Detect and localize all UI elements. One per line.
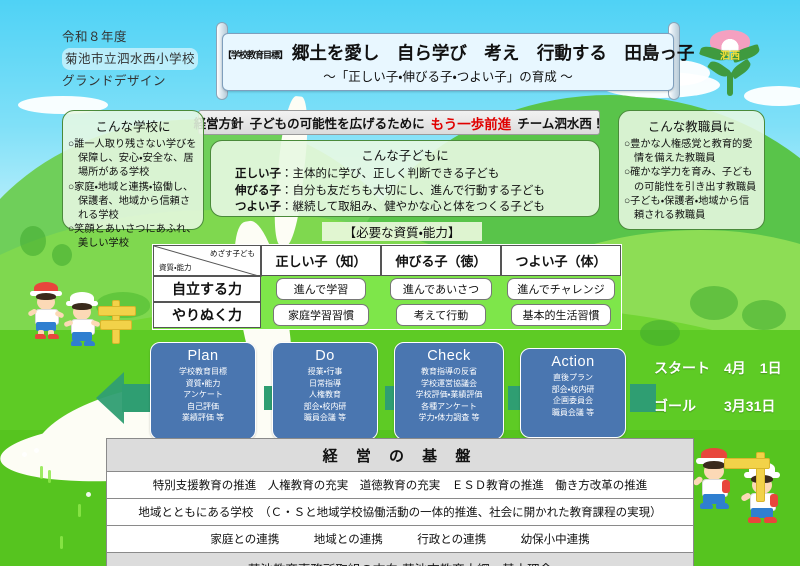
capability-section-title: 【必要な資質・能力】 <box>322 222 482 241</box>
policy-tail: チーム泗水西！ <box>517 113 604 132</box>
capability-row-items: 進んで学習 進んであいさつ 進んでチャレンジ <box>261 276 621 302</box>
grand-design-poster: 泗西 令和８年度 菊池市立泗水西小学校 グランドデザイン 【学校教育目標】 郷土… <box>0 0 800 566</box>
list-item: ○確かな学力を育み、子どもの可能性を引き出す教職員 <box>624 166 759 194</box>
list-item: ○豊かな人権感覚と教育的愛情を備えた教職員 <box>624 138 759 166</box>
grass-1 <box>40 466 43 479</box>
pdca-items: 直後プラン 部会・校内研 企画委員会 職員会議 等 <box>521 372 625 418</box>
child-type-desc: ：主体的に学び、正しく判断できる子ども <box>281 168 499 180</box>
tree-5 <box>640 320 680 346</box>
capability-col-2: 伸びる子（徳） <box>381 245 501 276</box>
signpost-right-arm <box>724 458 770 469</box>
capability-pill: 基本的生活習慣 <box>511 304 611 326</box>
target-school-box: こんな学校に ○誰一人取り残さない学びを保障し、安心・安全な、居場所がある学校 … <box>62 110 204 230</box>
capability-pill: 家庭学習習慣 <box>273 304 369 326</box>
capability-pill: 考えて行動 <box>396 304 486 326</box>
emblem-kanji: 泗西 <box>698 52 762 62</box>
target-staff-list: ○豊かな人権感覚と教育的愛情を備えた教職員 ○確かな学力を育み、子どもの可能性を… <box>619 138 764 227</box>
signpost-arm-bottom <box>100 320 132 330</box>
pdca-items: 学校教育目標 資質・能力 アンケート 自己評価 業績評価 等 <box>151 366 255 424</box>
capability-col-3: つよい子（体） <box>501 245 621 276</box>
emblem-stem <box>727 72 733 96</box>
schedule-start: スタート 4月 1日 <box>654 358 782 378</box>
capability-table-header: めざす子ども 資質・能力 正しい子（知） 伸びる子（徳） つよい子（体） <box>153 245 621 276</box>
pdca-heading: Do <box>273 348 377 364</box>
target-children-title: こんな子どもに <box>211 145 599 164</box>
target-children-box: こんな子どもに 正しい子：主体的に学び、正しく判断できる子ども 伸びる子：自分も… <box>210 140 600 217</box>
school-goal-banner: 【学校教育目標】 郷土を愛し 自ら学び 考え 行動する 田島っ子 ～「正しい子・… <box>222 33 674 91</box>
foundation-title: 経 営 の 基 盤 <box>107 439 693 472</box>
capability-row-label: 自立する力 <box>153 276 261 302</box>
target-school-list: ○誰一人取り残さない学びを保障し、安心・安全な、居場所がある学校 ○家庭・地域と… <box>63 138 203 256</box>
signpost-arm-top <box>98 306 136 316</box>
child-type-row: つよい子：継続して取組み、健やかな心と体をつくる子ども <box>211 199 599 216</box>
page-title: 【学校教育目標】 郷土を愛し 自ら学び 考え 行動する 田島っ子 <box>223 40 673 65</box>
pdca-heading: Plan <box>151 348 255 364</box>
foundation-basic-principle-row: 菊池教育事務所取組の方向・菊池市教育大綱 基本理念 <box>107 553 693 566</box>
capability-row-label: やりぬく力 <box>153 302 261 328</box>
child-type-name: つよい子 <box>235 201 281 213</box>
capability-pill: 進んでチャレンジ <box>507 278 615 300</box>
school-goal-tag: 【学校教育目標】 <box>223 50 287 60</box>
capability-col-1: 正しい子（知） <box>261 245 381 276</box>
grass-4 <box>60 536 63 549</box>
capability-corner-top: めざす子ども <box>210 248 255 259</box>
flower-1 <box>22 452 27 457</box>
flower-3 <box>86 492 91 497</box>
table-row: やりぬく力 家庭学習習慣 考えて行動 基本的生活習慣 <box>153 302 621 328</box>
capability-corner-bottom: 資質・能力 <box>159 262 192 273</box>
child-type-name: 正しい子 <box>235 168 281 180</box>
child-type-desc: ：継続して取組み、健やかな心と体をつくる子ども <box>281 201 545 213</box>
tree-3 <box>690 286 738 320</box>
child-type-desc: ：自分も友だちも大切にし、進んで行動する子ども <box>281 185 545 197</box>
schedule-goal: ゴール 3月31日 <box>654 396 775 416</box>
child-type-row: 伸びる子：自分も友だちも大切にし、進んで行動する子ども <box>211 183 599 200</box>
pdca-do-box: Do 授業・行事 日常指導 人権教育 部会・校内研 職員会議 等 <box>272 342 378 440</box>
header-year: 令和８年度 <box>62 26 242 48</box>
target-staff-box: こんな教職員に ○豊かな人権感覚と教育的愛情を備えた教職員 ○確かな学力を育み、… <box>618 110 765 230</box>
management-policy-bar: 経営方針 子どもの可能性を広げるために もう一歩前進 チーム泗水西！ <box>198 110 600 135</box>
child-illustration-left-2 <box>62 292 106 346</box>
policy-text: 子どもの可能性を広げるために <box>250 113 425 132</box>
pdca-plan-box: Plan 学校教育目標 資質・能力 アンケート 自己評価 業績評価 等 <box>150 342 256 440</box>
capability-pill: 進んで学習 <box>276 278 366 300</box>
capability-row-items: 家庭学習習慣 考えて行動 基本的生活習慣 <box>261 302 621 328</box>
pdca-check-box: Check 教育指導の反省 学校運営協議会 学校評価・業績評価 各種アンケート … <box>394 342 504 440</box>
table-row: 地域とともにある学校 （Ｃ・Ｓと地域学校協働活動の一体的推進、社会に開かれた教育… <box>107 499 693 526</box>
goal-bar <box>630 384 656 412</box>
child-type-name: 伸びる子 <box>235 185 281 197</box>
list-item: ○子ども・保護者・地域から信頼される教職員 <box>624 195 759 223</box>
header-doc-type: グランドデザイン <box>62 70 242 92</box>
document-header: 令和８年度 菊池市立泗水西小学校 グランドデザイン <box>62 26 242 92</box>
school-emblem-icon: 泗西 <box>698 30 762 98</box>
pdca-heading: Action <box>521 354 625 370</box>
cycle-arrow-icon <box>96 372 124 424</box>
target-school-title: こんな学校に <box>63 116 203 135</box>
tree-4 <box>742 300 786 330</box>
tree-1 <box>20 226 46 256</box>
pdca-items: 授業・行事 日常指導 人権教育 部会・校内研 職員会議 等 <box>273 366 377 424</box>
foundation-table: 経 営 の 基 盤 特別支援教育の推進 人権教育の充実 道徳教育の充実 ＥＳＤ教… <box>106 438 694 566</box>
flower-2 <box>34 448 39 453</box>
table-row: 特別支援教育の推進 人権教育の充実 道徳教育の充実 ＥＳＤ教育の推進 働き方改革… <box>107 472 693 499</box>
capability-corner-cell: めざす子ども 資質・能力 <box>153 245 261 276</box>
list-item: ○誰一人取り残さない学びを保障し、安心・安全な、居場所がある学校 <box>68 138 198 181</box>
header-school-name: 菊池市立泗水西小学校 <box>62 48 198 70</box>
pdca-heading: Check <box>395 348 503 364</box>
grass-3 <box>78 504 81 517</box>
school-goal-subtitle: ～「正しい子・伸びる子・つよい子」の育成 ～ <box>223 66 673 85</box>
table-row: 自立する力 進んで学習 進んであいさつ 進んでチャレンジ <box>153 276 621 302</box>
child-type-row: 正しい子：主体的に学び、正しく判断できる子ども <box>211 166 599 183</box>
grass-2 <box>48 470 51 483</box>
list-item: ○家庭・地域と連携・協働し、保護者、地域から信頼される学校 <box>68 181 198 224</box>
capability-pill: 進んであいさつ <box>390 278 492 300</box>
school-goal-text: 郷土を愛し 自ら学び 考え 行動する 田島っ子 <box>292 43 695 63</box>
target-staff-title: こんな教職員に <box>619 116 764 135</box>
capability-table: めざす子ども 資質・能力 正しい子（知） 伸びる子（徳） つよい子（体） 自立す… <box>152 244 622 330</box>
table-row: 家庭との連携 地域との連携 行政との連携 幼保小中連携 <box>107 526 693 553</box>
pdca-action-box: Action 直後プラン 部会・校内研 企画委員会 職員会議 等 <box>520 348 626 438</box>
pdca-items: 教育指導の反省 学校運営協議会 学校評価・業績評価 各種アンケート 学力・体力調… <box>395 366 503 424</box>
policy-highlight: もう一歩前進 <box>431 113 512 133</box>
